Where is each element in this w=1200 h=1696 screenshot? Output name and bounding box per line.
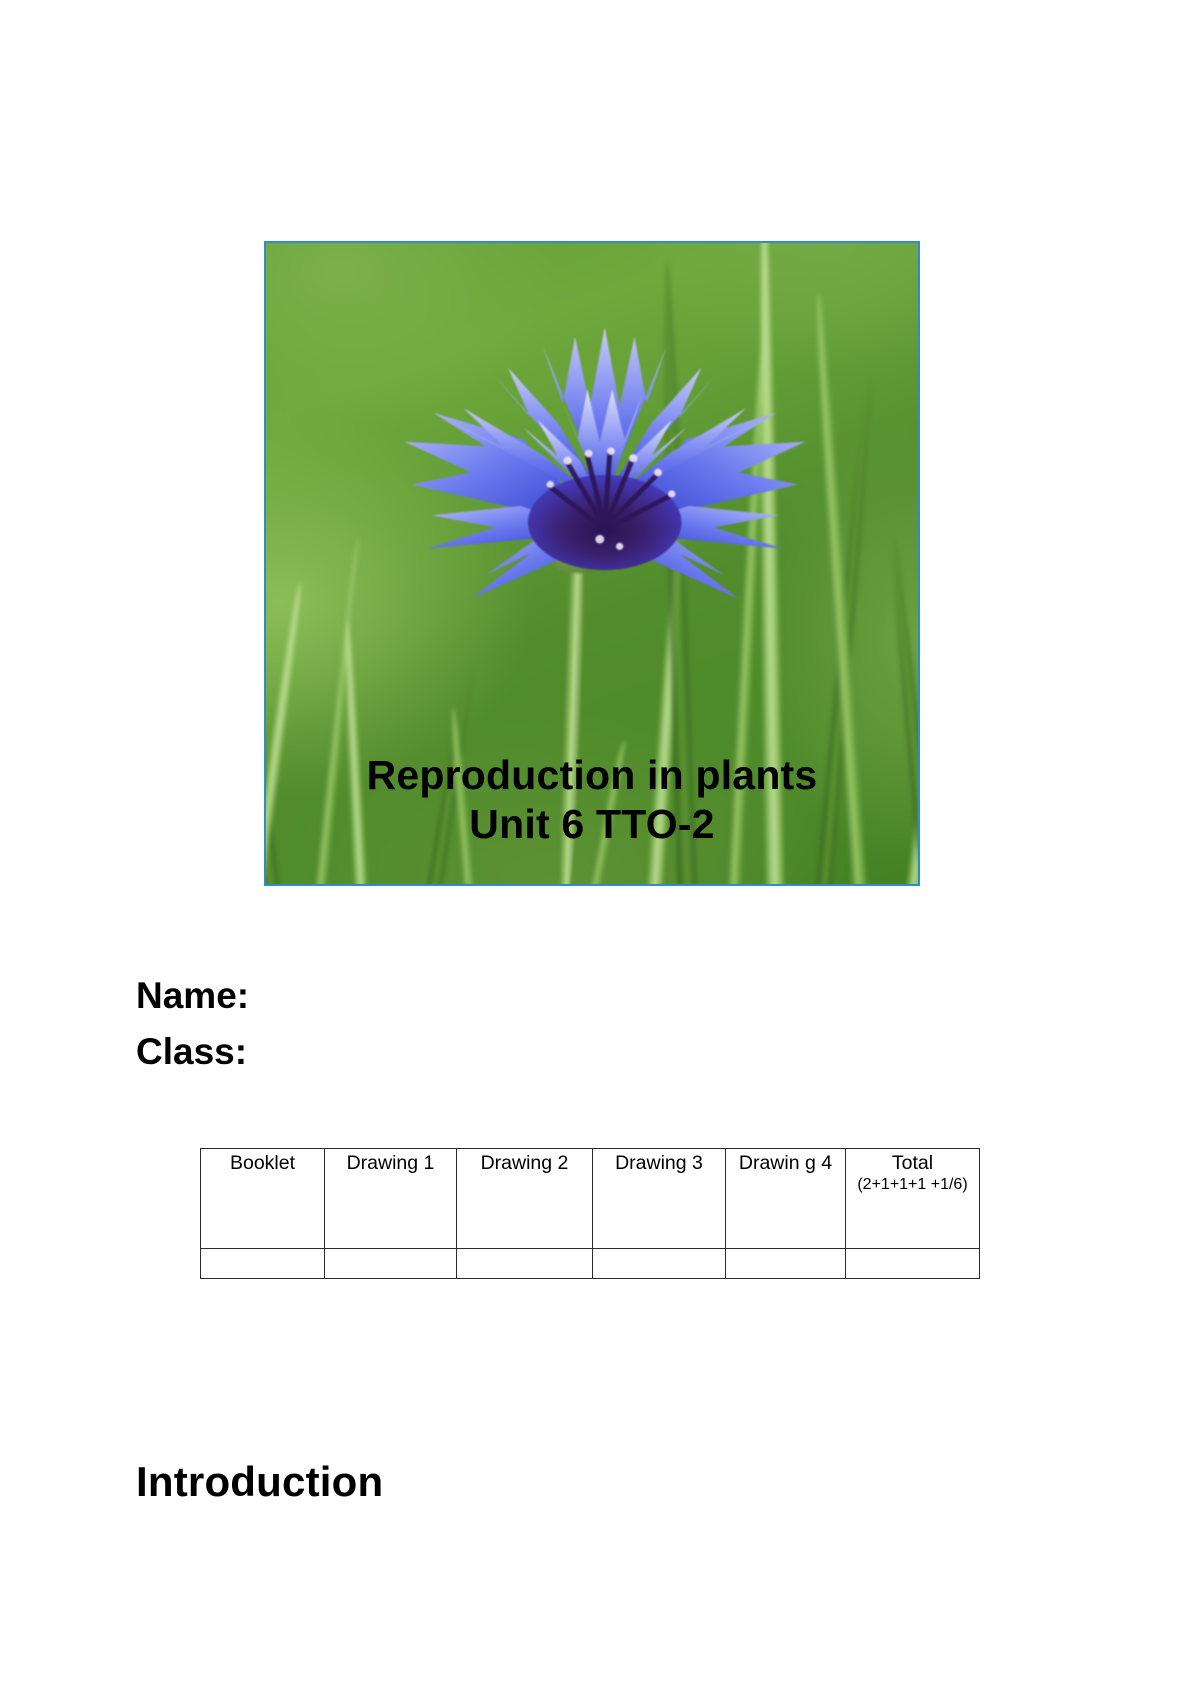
name-field-label: Name: — [136, 968, 249, 1024]
document-page: Reproduction in plants Unit 6 TTO-2 Name… — [0, 0, 1200, 1696]
table-header-drawing-3: Drawing 3 — [593, 1149, 726, 1249]
table-row — [201, 1249, 980, 1279]
table-header-drawing-1: Drawing 1 — [325, 1149, 457, 1249]
mark-cell-drawing-3[interactable] — [593, 1249, 726, 1279]
mark-cell-drawing-2[interactable] — [457, 1249, 593, 1279]
cover-title: Reproduction in plants Unit 6 TTO-2 — [266, 751, 918, 848]
cornflower-photo: Reproduction in plants Unit 6 TTO-2 — [264, 241, 920, 886]
mark-cell-drawing-1[interactable] — [325, 1249, 457, 1279]
cornflower-bloom — [357, 294, 853, 627]
section-heading-introduction: Introduction — [136, 1458, 383, 1506]
table-header-drawing-2: Drawing 2 — [457, 1149, 593, 1249]
class-field-label: Class: — [136, 1024, 249, 1080]
table-header-booklet: Booklet — [201, 1149, 325, 1249]
mark-cell-total[interactable] — [846, 1249, 980, 1279]
student-fields: Name: Class: — [136, 968, 249, 1080]
cover-title-line-1: Reproduction in plants — [266, 751, 918, 799]
table-header-total: Total (2+1+1+1 +1/6) — [846, 1149, 980, 1249]
total-formula: (2+1+1+1 +1/6) — [848, 1176, 977, 1195]
marks-table: Booklet Drawing 1 Drawing 2 Drawing 3 Dr… — [200, 1148, 980, 1279]
table-header-row: Booklet Drawing 1 Drawing 2 Drawing 3 Dr… — [201, 1149, 980, 1249]
mark-cell-booklet[interactable] — [201, 1249, 325, 1279]
cover-title-line-2: Unit 6 TTO-2 — [266, 800, 918, 848]
table-header-drawing-4: Drawin g 4 — [726, 1149, 846, 1249]
mark-cell-drawing-4[interactable] — [726, 1249, 846, 1279]
